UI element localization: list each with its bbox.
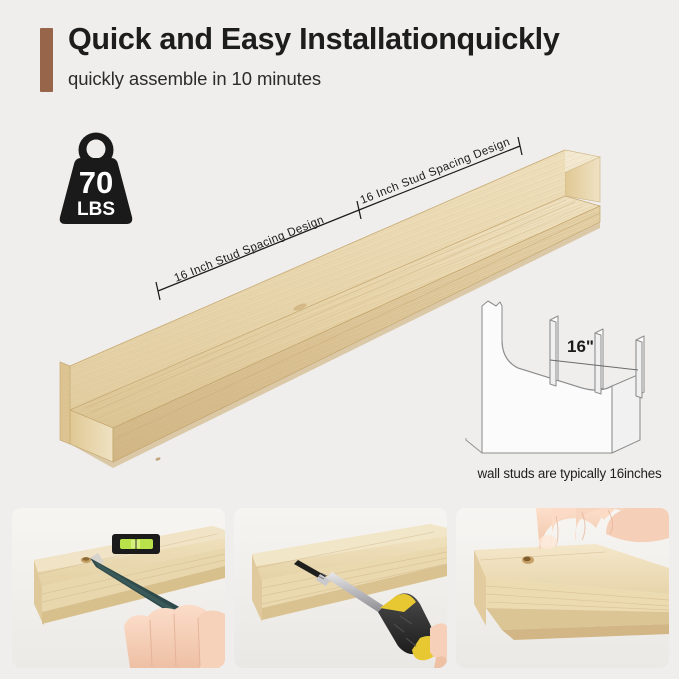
stud-diagram-caption: wall studs are typically 16inches xyxy=(462,466,677,481)
bubble-level-icon xyxy=(112,534,160,554)
page-title: Quick and Easy Installationquickly xyxy=(68,22,560,57)
page-subtitle: quickly assemble in 10 minutes xyxy=(68,68,321,90)
photo-mount-shelf-on-wall[interactable] xyxy=(456,508,669,668)
stud xyxy=(550,316,558,386)
header: Quick and Easy Installationquickly quick… xyxy=(40,24,660,104)
stud-dimension-line xyxy=(550,360,638,370)
photo-mark-hole-with-pencil[interactable] xyxy=(12,508,225,668)
stud xyxy=(636,336,644,398)
stud-dimension-label: 16" xyxy=(567,337,594,356)
infographic-canvas: Quick and Easy Installationquickly quick… xyxy=(0,0,679,679)
installation-steps-gallery xyxy=(12,508,669,668)
stud xyxy=(595,329,603,394)
wall-stud-diagram: 16" xyxy=(462,288,672,463)
photo-drive-screw-with-screwdriver[interactable] xyxy=(234,508,447,668)
accent-bar xyxy=(40,28,53,92)
